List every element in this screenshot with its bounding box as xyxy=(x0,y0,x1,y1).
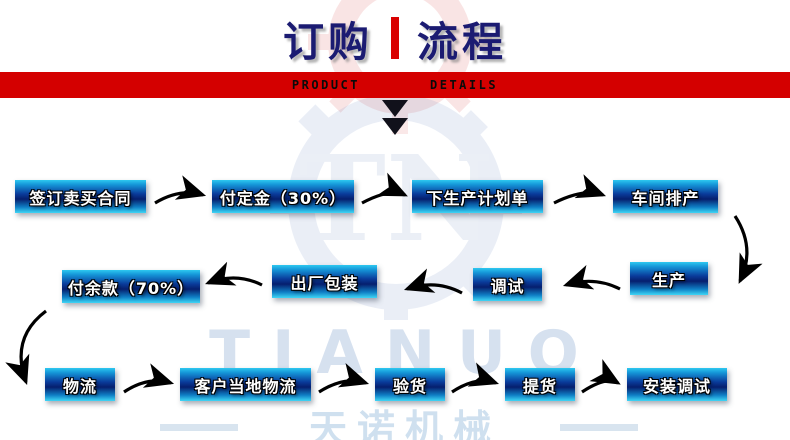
flow-step-box[interactable]: 安装调试 xyxy=(627,368,727,401)
flow-step-label: 付定金（30%） xyxy=(220,185,346,209)
arrow-r3-1 xyxy=(124,381,171,392)
flow-step-label: 提货 xyxy=(523,373,557,397)
watermark-dash-right xyxy=(560,424,638,431)
flow-step-box[interactable]: 车间排产 xyxy=(613,180,718,213)
flow-step-label: 生产 xyxy=(652,267,686,291)
arrow-wrap-left xyxy=(21,311,46,382)
flow-step-label: 车间排产 xyxy=(631,185,699,209)
title-divider-bar xyxy=(391,17,399,59)
flow-step-box[interactable]: 签订卖买合同 xyxy=(15,180,146,213)
flow-step-label: 签订卖买合同 xyxy=(29,185,131,209)
arrow-r3-4 xyxy=(582,381,618,392)
flow-step-box[interactable]: 生产 xyxy=(630,262,708,295)
order-process-infographic: TN TIANUO 天诺机械 订购流程 PRODUCT DETAILS 签订卖买… xyxy=(0,0,790,440)
arrow-r2-3 xyxy=(208,278,262,285)
arrow-r1-1 xyxy=(155,193,203,203)
arrow-r3-2 xyxy=(319,381,366,392)
flow-step-label: 付余款（70%） xyxy=(68,275,194,299)
flow-step-box[interactable]: 付定金（30%） xyxy=(212,180,354,213)
flow-step-box[interactable]: 提货 xyxy=(505,368,575,401)
watermark-dash-left xyxy=(160,424,238,431)
flow-step-label: 物流 xyxy=(63,373,97,397)
page-title: 订购流程 xyxy=(0,8,790,68)
chevron-down-icon-1 xyxy=(382,100,408,117)
flow-step-label: 安装调试 xyxy=(643,373,711,397)
flow-step-box[interactable]: 下生产计划单 xyxy=(412,180,543,213)
flow-step-box[interactable]: 物流 xyxy=(45,368,115,401)
arrow-r2-2 xyxy=(407,285,462,293)
page-title-right: 流程 xyxy=(417,8,507,68)
banner-label-product: PRODUCT xyxy=(292,78,360,92)
banner-label-details: DETAILS xyxy=(430,78,498,92)
arrow-wrap-right xyxy=(735,216,747,281)
arrow-r1-3 xyxy=(554,193,603,203)
arrow-r3-3 xyxy=(452,381,496,392)
flow-step-box[interactable]: 客户当地物流 xyxy=(180,368,311,401)
arrow-r1-2 xyxy=(362,193,405,203)
flow-step-box[interactable]: 调试 xyxy=(473,268,542,301)
flow-step-box[interactable]: 出厂包装 xyxy=(272,265,377,298)
flow-step-box[interactable]: 付余款（70%） xyxy=(62,270,200,303)
flow-step-box[interactable]: 验货 xyxy=(375,368,445,401)
flow-step-label: 验货 xyxy=(393,373,427,397)
chevron-down-icon-2 xyxy=(382,118,408,135)
flow-step-label: 调试 xyxy=(490,273,524,297)
flow-step-label: 下生产计划单 xyxy=(426,185,528,209)
flow-step-label: 出厂包装 xyxy=(290,270,358,294)
banner-labels: PRODUCT DETAILS xyxy=(0,72,790,98)
page-title-left: 订购 xyxy=(283,8,373,68)
arrow-r2-1 xyxy=(566,281,620,289)
flow-step-label: 客户当地物流 xyxy=(194,373,296,397)
brand-cn-watermark: 天诺机械 xyxy=(155,398,655,440)
